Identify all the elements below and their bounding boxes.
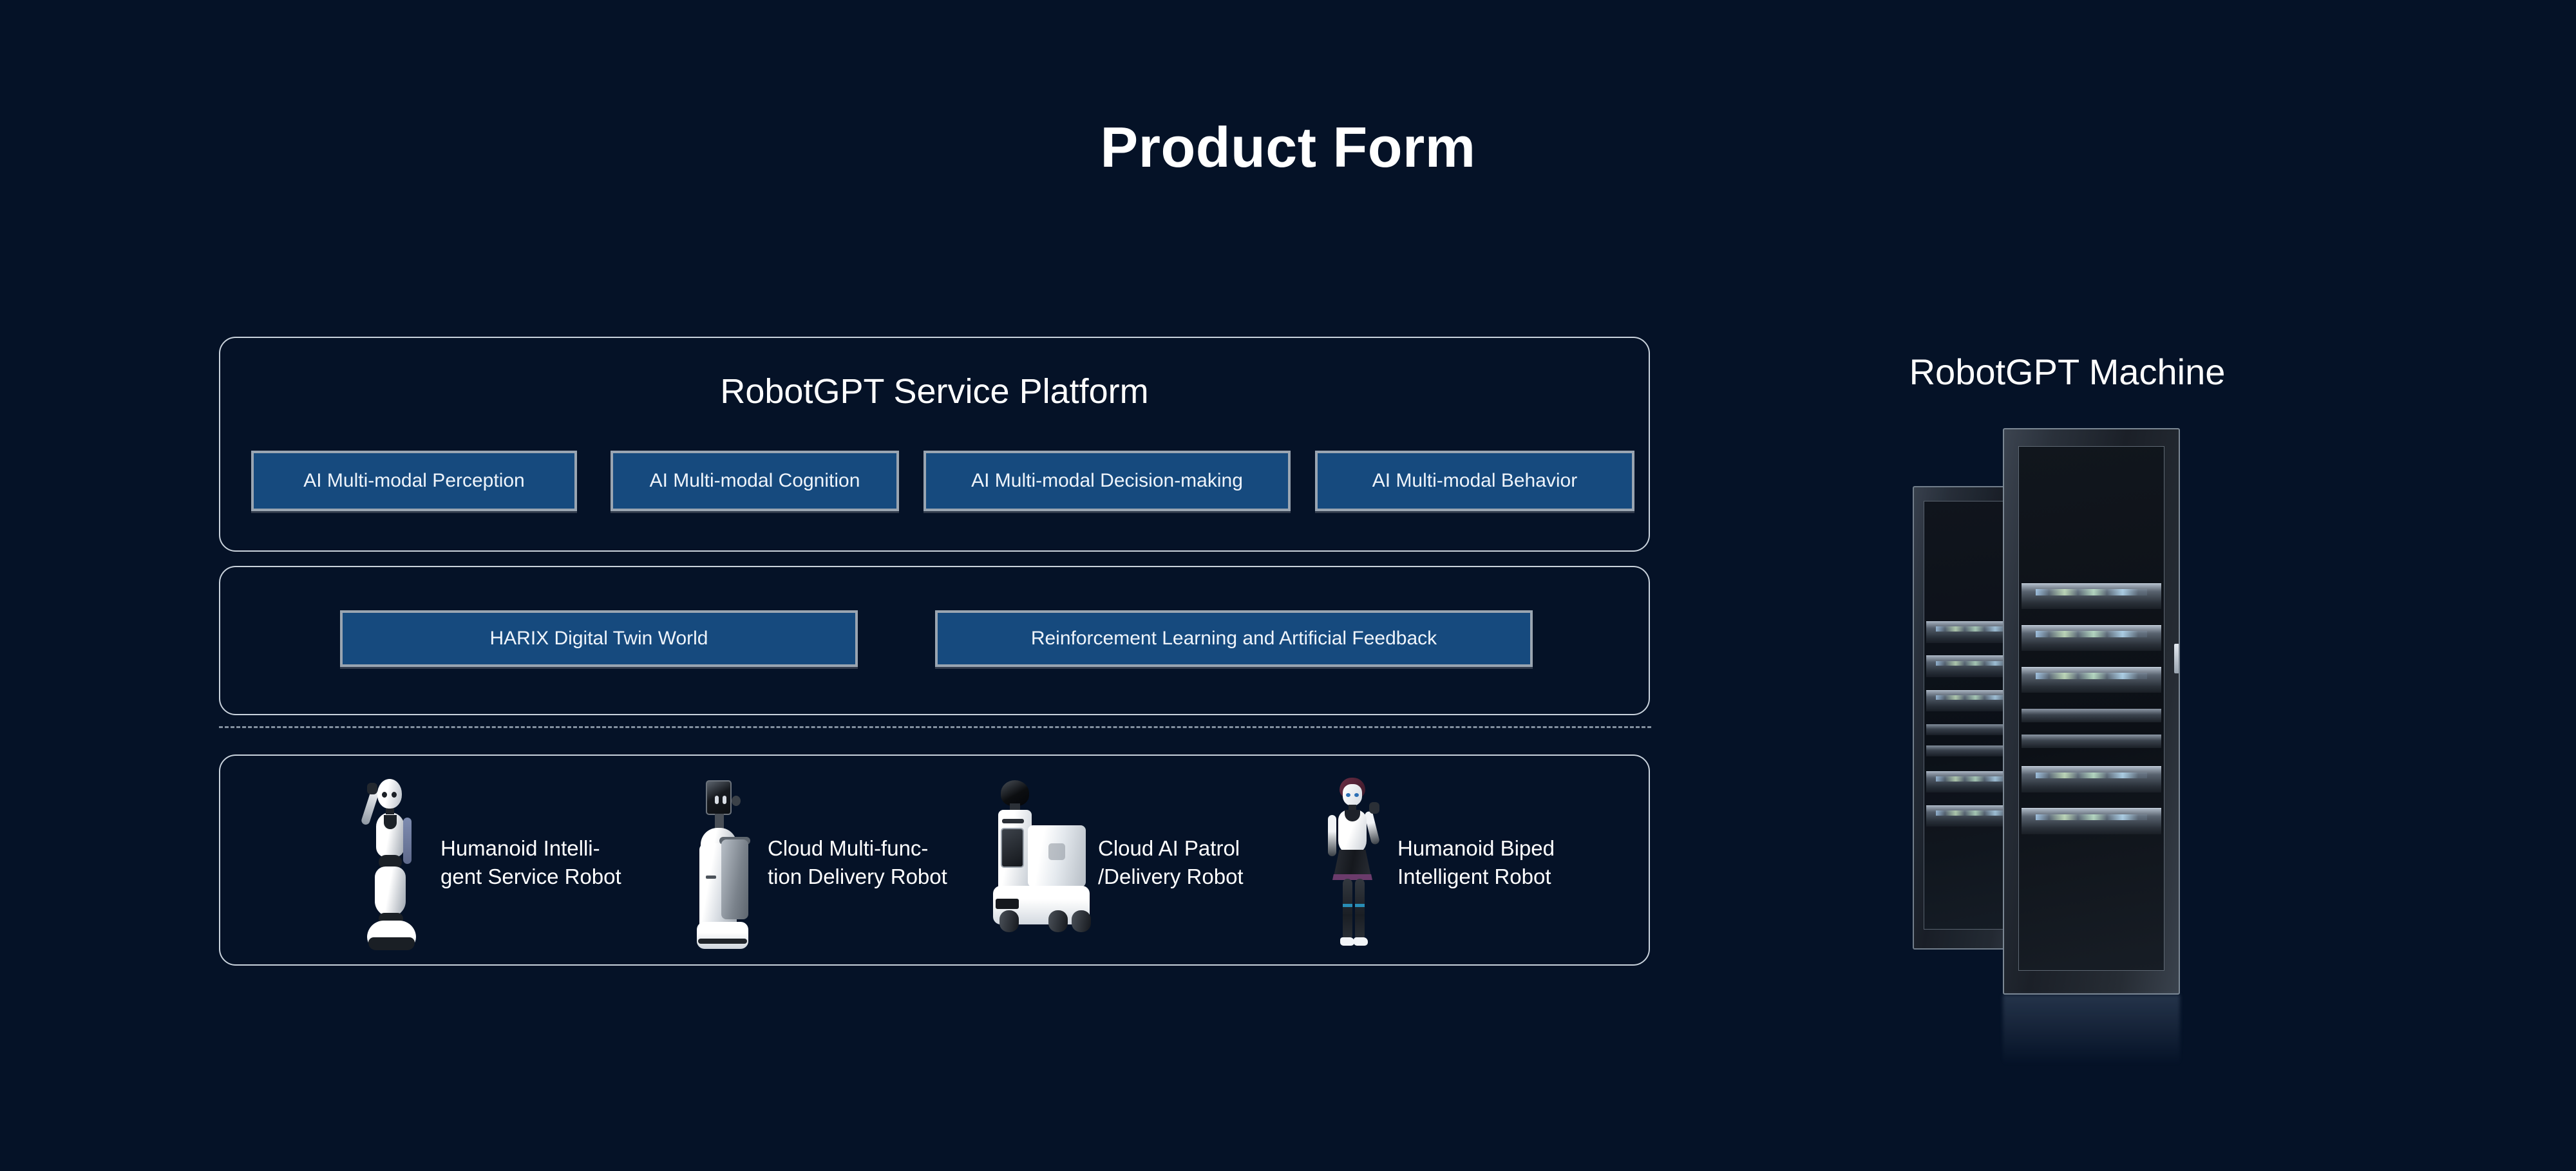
capability-chip-decision-making[interactable]: AI Multi-modal Decision-making [923, 451, 1291, 511]
page-title: Product Form [0, 115, 2576, 180]
section-divider [219, 726, 1651, 728]
cloud-patrol-robot-image [984, 773, 1090, 953]
cloud-delivery-robot-image [683, 773, 760, 953]
platform-title: RobotGPT Service Platform [220, 371, 1649, 411]
machine-title: RobotGPT Machine [1816, 351, 2318, 393]
product-label: Cloud Multi-func- tion Delivery Robot [768, 834, 947, 890]
server-cabinet-front [2003, 428, 2180, 995]
capability-chip-cognition[interactable]: AI Multi-modal Cognition [611, 451, 899, 511]
product-label: Cloud AI Patrol /Delivery Robot [1098, 834, 1244, 890]
product-item-humanoid-biped-robot[interactable]: Humanoid Biped Intelligent Robot [1314, 773, 1555, 953]
cabinet-reflection [2003, 995, 2180, 1065]
server-rack-image [1906, 422, 2241, 1027]
platform-card: RobotGPT Service Platform [219, 337, 1650, 552]
slide-root: Product Form RobotGPT Service Platform A… [0, 0, 2576, 1171]
product-label: Humanoid Biped Intelligent Robot [1397, 834, 1555, 890]
humanoid-biped-robot-image [1314, 773, 1390, 953]
product-item-humanoid-service-robot[interactable]: Humanoid Intelli- gent Service Robot [355, 773, 621, 953]
product-item-cloud-patrol-robot[interactable]: Cloud AI Patrol /Delivery Robot [984, 773, 1244, 953]
cabinet-door-handle [2174, 644, 2179, 673]
capability-chip-perception[interactable]: AI Multi-modal Perception [251, 451, 577, 511]
foundation-chip-reinforcement-learning[interactable]: Reinforcement Learning and Artificial Fe… [935, 610, 1533, 667]
foundation-chip-harix-digital-twin[interactable]: HARIX Digital Twin World [340, 610, 858, 667]
humanoid-service-robot-image [355, 773, 433, 953]
capability-chip-behavior[interactable]: AI Multi-modal Behavior [1315, 451, 1634, 511]
product-label: Humanoid Intelli- gent Service Robot [440, 834, 621, 890]
product-item-cloud-delivery-robot[interactable]: Cloud Multi-func- tion Delivery Robot [683, 773, 947, 953]
